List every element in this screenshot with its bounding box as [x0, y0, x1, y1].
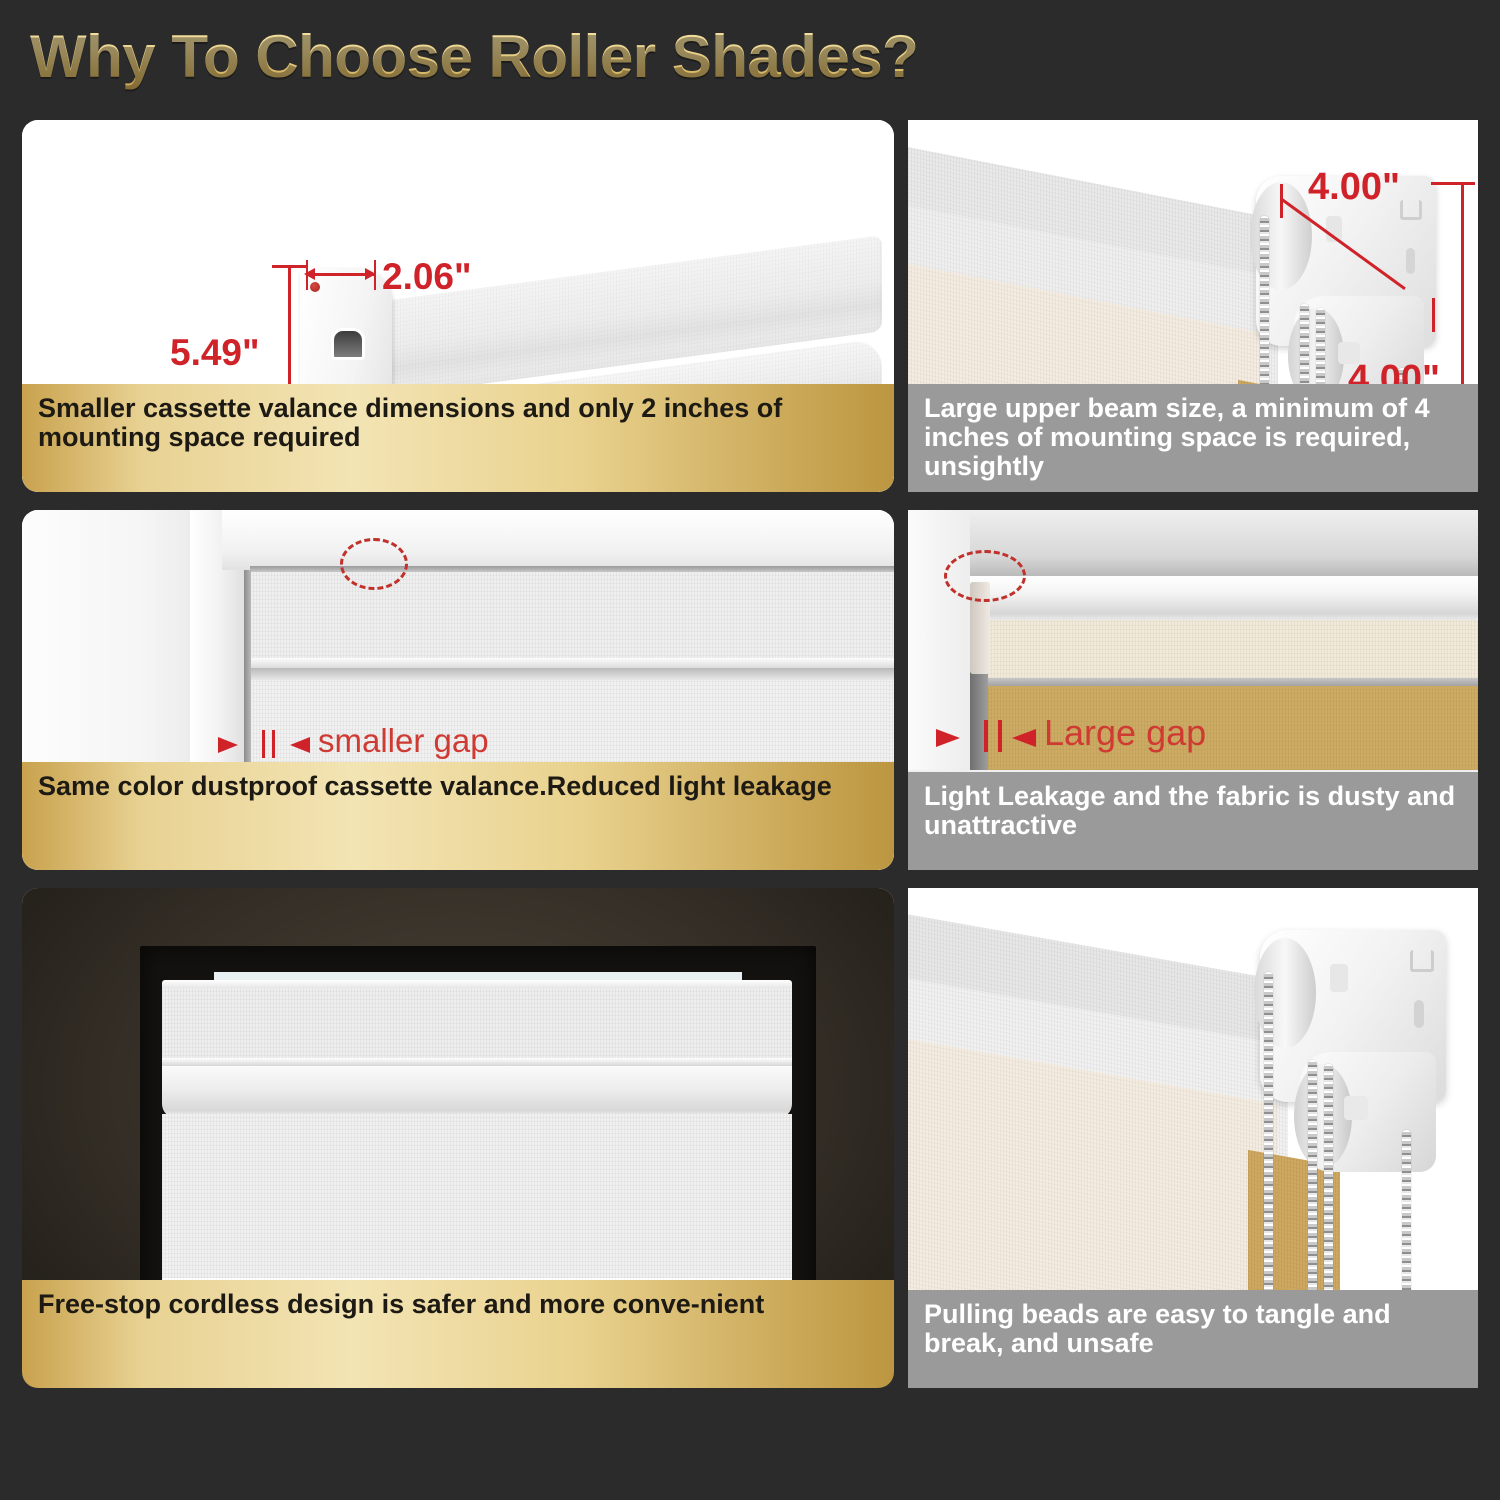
valance-face: [250, 572, 894, 660]
bracket-emboss-b: [1344, 1096, 1368, 1120]
caption-text: Free-stop cordless design is safer and m…: [38, 1289, 764, 1319]
bracket-slot-b: [1406, 248, 1415, 274]
width-dim-arrow-left: [304, 268, 315, 280]
caption-text: Large upper beam size, a minimum of 4 in…: [924, 393, 1430, 481]
panel-pro-cordless: Free-stop cordless design is safer and m…: [22, 888, 894, 1388]
page-title: Why To Choose Roller Shades?: [30, 22, 918, 91]
caption-text: Smaller cassette valance dimensions and …: [38, 393, 782, 452]
gap-callout-label: smaller gap: [318, 722, 489, 760]
roller-tube: [970, 576, 1478, 622]
shade-fabric: [162, 1114, 792, 1282]
width-dimension-label: 2.06": [382, 256, 472, 298]
bracket-slot-b: [1414, 1000, 1424, 1028]
panel-caption-pro-smaller-gap: Same color dustproof cassette valance.Re…: [22, 762, 894, 870]
gap-tick-b: [272, 730, 275, 758]
gap-tick-b: [998, 720, 1002, 752]
highlight-dashed-circle: [340, 538, 408, 590]
height-dimension-label: 5.49": [170, 332, 260, 374]
gap-arrow-right: [290, 737, 310, 753]
panel-caption-pro-cordless: Free-stop cordless design is safer and m…: [22, 1280, 894, 1388]
infographic-page: Why To Choose Roller Shades?: [0, 0, 1500, 1500]
panel-caption-pro-cassette-size: Smaller cassette valance dimensions and …: [22, 384, 894, 492]
width-dim-arrow-right: [365, 268, 376, 280]
window-frame-header: [222, 510, 894, 570]
width-dimension-label: 4.00": [1308, 166, 1400, 209]
bracket-emboss-a: [1330, 964, 1348, 992]
caption-text: Same color dustproof cassette valance.Re…: [38, 771, 832, 801]
panel-con-light-leakage: Large gap Light Leakage and the fabric i…: [908, 510, 1478, 870]
panel-caption-con-light-leakage: Light Leakage and the fabric is dusty an…: [908, 772, 1478, 870]
caption-text: Pulling beads are easy to tangle and bre…: [924, 1299, 1391, 1358]
light-gap-strip: [244, 570, 251, 770]
bracket-slot-a: [1410, 950, 1434, 972]
gap-callout-label: Large gap: [1044, 712, 1206, 754]
roller-tube: [162, 1066, 792, 1118]
panel-con-pull-beads: Pulling beads are easy to tangle and bre…: [908, 888, 1478, 1388]
gap-arrow-left: [218, 737, 238, 753]
highlight-dashed-circle: [944, 550, 1026, 602]
gap-tick-a: [984, 720, 988, 752]
panel-caption-con-pull-beads: Pulling beads are easy to tangle and bre…: [908, 1290, 1478, 1388]
gap-arrow-right: [1012, 729, 1036, 747]
height-dim-tick-top: [1431, 182, 1475, 185]
valance-face: [162, 988, 792, 1060]
end-cap-slot: [331, 328, 365, 360]
height-dim-line: [1461, 182, 1464, 394]
bracket-slot-a: [1400, 200, 1422, 220]
height-dim-tick-top: [272, 265, 306, 268]
gap-arrow-left: [936, 729, 960, 747]
mount-marker-dot: [310, 282, 320, 292]
caption-text: Light Leakage and the fabric is dusty an…: [924, 781, 1455, 840]
gap-tick-a: [262, 730, 265, 758]
panel-caption-con-beam-size: Large upper beam size, a minimum of 4 in…: [908, 384, 1478, 492]
panel-con-beam-size: 4.00" 4.00" Large upper beam size, a min…: [908, 120, 1478, 492]
panel-pro-smaller-gap: smaller gap Same color dustproof cassett…: [22, 510, 894, 870]
cream-fabric-band: [970, 620, 1478, 682]
panel-pro-cassette-size: 2.06" 5.49" Smaller cassette valance dim…: [22, 120, 894, 492]
width-dim-tick-right: [1432, 298, 1435, 332]
